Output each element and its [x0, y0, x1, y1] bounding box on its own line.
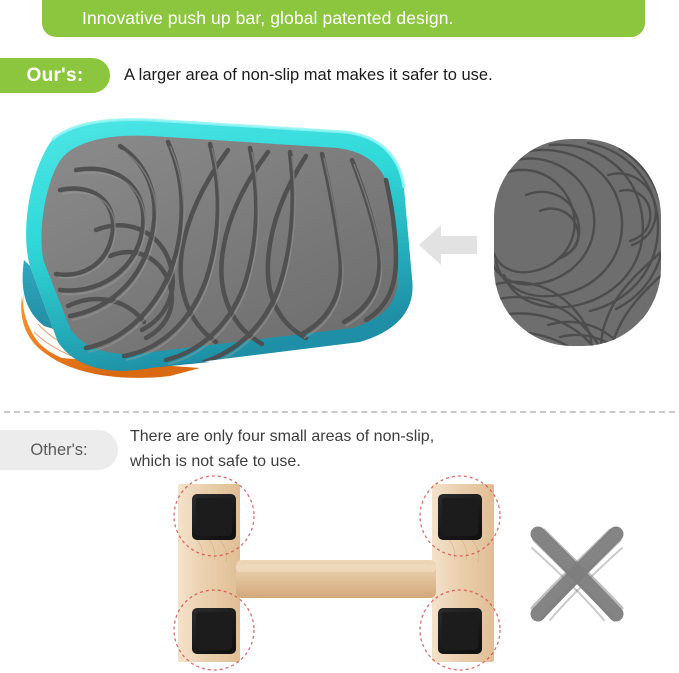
- x-mark-icon: [522, 522, 632, 627]
- wooden-push-up-bar: [150, 472, 530, 672]
- section-divider: [4, 411, 675, 413]
- others-description-line-1: There are only four small areas of non-s…: [130, 424, 560, 449]
- bar-pad-bottom-right: [438, 608, 482, 654]
- header-banner: Innovative push up bar, global patented …: [42, 0, 645, 37]
- bar-pad-bottom-left: [192, 608, 236, 654]
- ours-badge-label: Our's:: [0, 58, 110, 93]
- non-slip-mat-swatch: [490, 135, 665, 350]
- header-banner-text: Innovative push up bar, global patented …: [82, 0, 635, 37]
- bar-pad-top-right: [438, 494, 482, 540]
- others-description: There are only four small areas of non-s…: [130, 424, 560, 474]
- others-description-line-2: which is not safe to use.: [130, 449, 560, 474]
- ours-badge: Our's:: [0, 58, 110, 93]
- ours-description: A larger area of non-slip mat makes it s…: [124, 58, 493, 93]
- product-comparison-page: Innovative push up bar, global patented …: [0, 0, 679, 673]
- push-up-bar-top-pad: [0, 110, 440, 400]
- bar-crossbar: [236, 560, 436, 598]
- ours-product-stage: [0, 110, 679, 400]
- others-badge-label: Other's:: [0, 430, 118, 470]
- others-badge: Other's:: [0, 430, 118, 470]
- bar-pad-top-left: [192, 494, 236, 540]
- left-arrow-icon: [415, 215, 485, 275]
